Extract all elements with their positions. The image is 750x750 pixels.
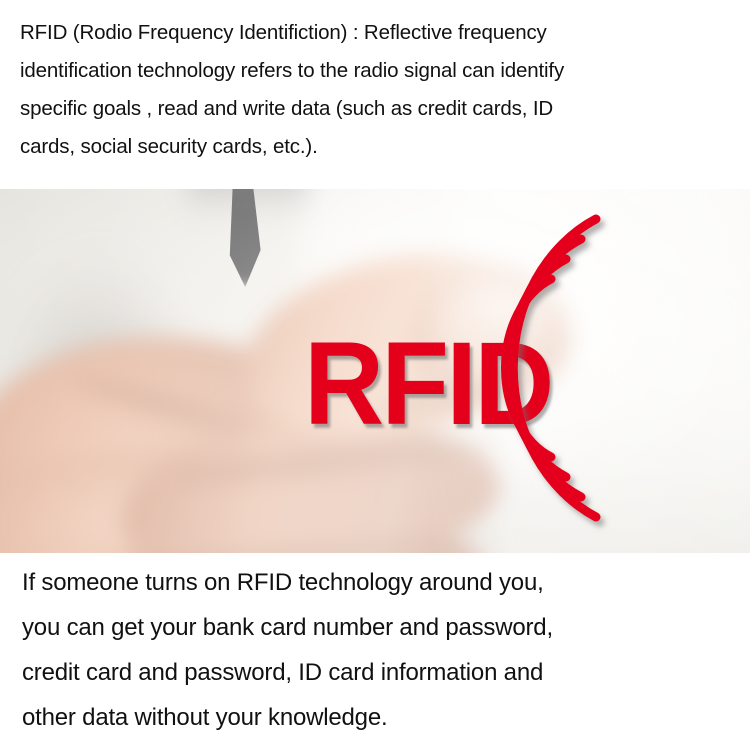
rfid-hero-image: RFID — [0, 189, 750, 553]
intro-line-3: specific goals , read and write data (su… — [20, 90, 732, 128]
pointing-hand — [0, 217, 640, 553]
intro-line-4: cards, social security cards, etc.). — [20, 128, 732, 166]
intro-line-1: RFID (Rodio Frequency Identifiction) : R… — [20, 14, 732, 52]
intro-line-2: identification technology refers to the … — [20, 52, 732, 90]
warning-line-3: credit card and password, ID card inform… — [22, 650, 732, 695]
intro-paragraph: RFID (Rodio Frequency Identifiction) : R… — [0, 14, 750, 166]
warning-line-4: other data without your knowledge. — [22, 695, 732, 740]
warning-paragraph: If someone turns on RFID technology arou… — [0, 560, 750, 740]
warning-line-1: If someone turns on RFID technology arou… — [22, 560, 732, 605]
product-description-page: RFID (Rodio Frequency Identifiction) : R… — [0, 0, 750, 750]
warning-line-2: you can get your bank card number and pa… — [22, 605, 732, 650]
